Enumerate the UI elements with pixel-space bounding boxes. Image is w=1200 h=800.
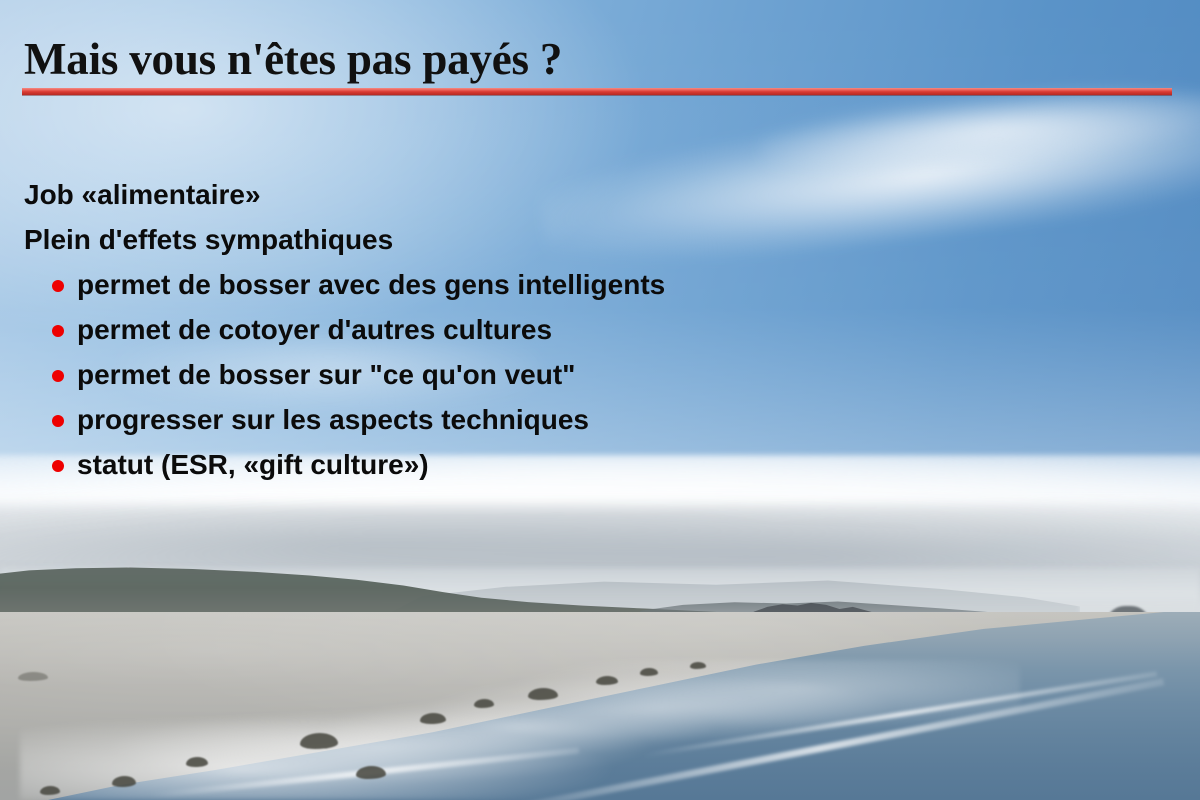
seaweed-clump <box>690 662 706 669</box>
seaweed-clump <box>474 699 494 708</box>
page-title: Mais vous n'êtes pas payés ? <box>24 36 562 83</box>
title-underline-rule <box>22 88 1172 95</box>
bullet-item-text: progresser sur les aspects techniques <box>77 397 589 442</box>
body-line: Job «alimentaire» <box>24 172 1124 217</box>
shoreline-foam <box>20 660 1020 800</box>
bullet-icon <box>52 280 64 292</box>
bullet-item-text: permet de bosser sur "ce qu'on veut" <box>77 352 575 397</box>
seaweed-clump <box>640 668 658 676</box>
presentation-slide: Mais vous n'êtes pas payés ? Job «alimen… <box>0 0 1200 800</box>
seaweed-clump <box>18 672 48 681</box>
seaweed-clump <box>528 688 558 700</box>
bullet-item: progresser sur les aspects techniques <box>52 397 1124 442</box>
seaweed-clump <box>112 776 136 787</box>
seaweed-clump <box>186 757 208 767</box>
bullet-icon <box>52 325 64 337</box>
slide-body: Job «alimentaire» Plein d'effets sympath… <box>24 172 1124 487</box>
seaweed-clump <box>300 733 338 749</box>
bullet-icon <box>52 415 64 427</box>
bullet-icon <box>52 460 64 472</box>
body-line-text: Plein d'effets sympathiques <box>24 224 393 255</box>
body-line: Plein d'effets sympathiques <box>24 217 1124 262</box>
bullet-icon <box>52 370 64 382</box>
seaweed-clump <box>40 786 60 795</box>
seaweed-clump <box>356 766 386 779</box>
bullet-item-text: permet de bosser avec des gens intellige… <box>77 262 665 307</box>
bullet-item: permet de bosser sur "ce qu'on veut" <box>52 352 1124 397</box>
bullet-item-text: statut (ESR, «gift culture») <box>77 442 429 487</box>
seaweed-clump <box>596 676 618 685</box>
bullet-item-text: permet de cotoyer d'autres cultures <box>77 307 552 352</box>
bullet-item: permet de cotoyer d'autres cultures <box>52 307 1124 352</box>
body-line-text: Job «alimentaire» <box>24 179 261 210</box>
seaweed-clump <box>420 713 446 724</box>
bullet-item: statut (ESR, «gift culture») <box>52 442 1124 487</box>
bullet-item: permet de bosser avec des gens intellige… <box>52 262 1124 307</box>
